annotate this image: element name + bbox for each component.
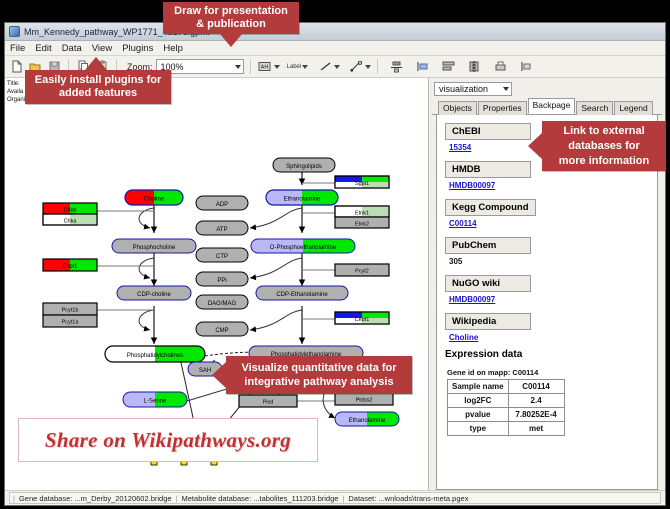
svg-text:Phosphocholine: Phosphocholine: [133, 245, 176, 251]
svg-text:Phosphatidylcholines: Phosphatidylcholines: [127, 353, 183, 359]
node-dagmag: DAG/MAG: [196, 295, 248, 309]
label-dropdown[interactable]: Label: [287, 64, 309, 70]
canvas-meta-title: Title:: [7, 80, 25, 88]
db-name-kegg: Kegg Compound: [445, 199, 536, 216]
node-atp: ATP: [196, 221, 248, 235]
align-center-icon[interactable]: [388, 59, 404, 75]
new-file-icon[interactable]: [8, 59, 24, 75]
menu-bar: File Edit Data View Plugins Help: [5, 41, 665, 56]
node-phosphatidylcholines: Phosphatidylcholines: [105, 346, 205, 362]
expr-key-pvalue: pvalue: [448, 408, 509, 422]
svg-text:Sphingolipids: Sphingolipids: [286, 164, 322, 170]
node-chpt1: Chpt1: [43, 259, 97, 271]
callout-plugins-arrow: [85, 57, 107, 70]
expr-val-pvalue: 7.80252E-4: [508, 408, 564, 422]
node-l-serine-left: L-Serine: [123, 392, 187, 407]
callout-plugins: Easily install plugins for added feature…: [25, 70, 171, 104]
expression-data-title: Expression data: [445, 349, 657, 360]
node-cdp-choline: CDP-choline: [117, 286, 191, 300]
app-icon: [9, 26, 20, 37]
status-dataset: Dataset: ...wnloads\trans-meta.pgex: [348, 494, 468, 503]
svg-text:Cept1: Cept1: [355, 317, 370, 323]
callout-plugins-line1: Easily install plugins for: [35, 74, 162, 87]
node-ppi: PPi: [196, 272, 248, 286]
node-sphingolipids: Sphingolipids: [273, 158, 335, 172]
svg-text:Pcyt1a: Pcyt1a: [62, 320, 80, 326]
chevron-down-icon: [503, 87, 509, 91]
svg-text:SAH: SAH: [199, 368, 211, 374]
node-etnk2: Etnk2: [335, 217, 389, 228]
db-name-chebi: ChEBI: [445, 123, 531, 140]
db-name-wikipedia: Wikipedia: [445, 313, 531, 330]
visualization-select[interactable]: visualization: [434, 82, 512, 96]
node-sgpl1: Sgpl1: [335, 176, 389, 188]
svg-text:CDP-Ethanolamine: CDP-Ethanolamine: [276, 292, 328, 298]
table-row: log2FC 2.4: [448, 394, 565, 408]
tab-properties[interactable]: Properties: [478, 101, 527, 115]
node-ptdss2: Ptdss2: [335, 393, 393, 405]
chevron-down-icon: [365, 65, 371, 69]
db-name-hmdb: HMDB: [445, 161, 531, 178]
chevron-down-icon: [334, 65, 340, 69]
backpage-content: ChEBI 15354 HMDB HMDB00097 Kegg Compound…: [436, 115, 658, 490]
svg-text:Sgpl1: Sgpl1: [355, 181, 369, 187]
menu-data[interactable]: Data: [62, 43, 82, 54]
node-o-phosphoethanolamine: O-Phosphoethanolamine: [251, 239, 355, 253]
svg-text:CDP-choline: CDP-choline: [137, 292, 171, 298]
line-dropdown[interactable]: [317, 59, 340, 75]
callout-draw: Draw for presentation & publication: [163, 2, 299, 34]
expr-key-sample-name: Sample name: [448, 380, 509, 394]
status-gene-database: Gene database: ...m_Derby_20120602.bridg…: [19, 494, 172, 503]
line-icon: [317, 59, 333, 75]
label-dropdown-label: Label: [287, 64, 302, 70]
expr-val-log2fc: 2.4: [508, 394, 564, 408]
node-chkb: Chkb: [43, 203, 97, 214]
node-cmp: CMP: [196, 322, 248, 336]
svg-text:Etnk1: Etnk1: [355, 211, 369, 217]
callout-links-line3: more information: [559, 154, 649, 169]
callout-plugins-line2: added features: [59, 87, 137, 100]
callout-draw-line1: Draw for presentation: [174, 5, 288, 18]
table-row: type met: [448, 422, 565, 436]
node-pcyt1b: Pcyt1b: [43, 303, 97, 315]
align-rows-icon[interactable]: [440, 59, 456, 75]
callout-visualize-line2: integrative pathway analysis: [244, 375, 393, 389]
node-phosphocholine: Phosphocholine: [112, 239, 196, 253]
menu-plugins[interactable]: Plugins: [122, 43, 153, 54]
db-link-wikipedia[interactable]: Choline: [445, 330, 657, 342]
svg-text:Chpt1: Chpt1: [63, 264, 78, 270]
title-bar: Mm_Kennedy_pathway_WP1771_45176.gpml: [5, 23, 665, 41]
menu-file[interactable]: File: [10, 43, 25, 54]
svg-text:DAG/MAG: DAG/MAG: [208, 301, 237, 307]
tab-search[interactable]: Search: [576, 101, 613, 115]
expr-key-log2fc: log2FC: [448, 394, 509, 408]
screenshot-root: Mm_Kennedy_pathway_WP1771_45176.gpml Fil…: [0, 0, 670, 509]
print-icon[interactable]: [492, 59, 508, 75]
canvas-meta-availability: Availa: [7, 88, 25, 96]
status-separator: |: [176, 494, 178, 503]
db-link-kegg[interactable]: C00114: [445, 216, 657, 228]
callout-visualize-line1: Visualize quantitative data for: [241, 361, 396, 375]
svg-text:PPi: PPi: [217, 278, 226, 284]
chevron-down-icon: [274, 65, 280, 69]
toolbar-separator: [250, 59, 251, 74]
tab-backpage[interactable]: Backpage: [528, 98, 576, 114]
svg-text:Ptdss2: Ptdss2: [356, 398, 373, 404]
svg-text:Pcyt2: Pcyt2: [355, 269, 369, 275]
callout-links-line2: databases for: [568, 139, 640, 154]
toolbar-separator: [377, 59, 378, 74]
menu-help[interactable]: Help: [163, 43, 183, 54]
svg-text:L-Serine: L-Serine: [144, 399, 167, 405]
svg-text:Pcyt1b: Pcyt1b: [62, 308, 79, 314]
svg-text:CMP: CMP: [215, 328, 228, 334]
svg-text:O-Phosphoethanolamine: O-Phosphoethanolamine: [270, 245, 337, 251]
node-pisd: Pisd: [239, 395, 297, 407]
status-metabolite-database: Metabolite database: ...tabolites_111203…: [182, 494, 339, 503]
svg-text:Chka: Chka: [64, 219, 78, 225]
svg-text:Choline: Choline: [144, 197, 165, 203]
node-cdp-ethanolamine: CDP-Ethanolamine: [256, 286, 348, 300]
db-name-nugo: NuGO wiki: [445, 275, 531, 292]
expression-table: Sample name C00114 log2FC 2.4 pvalue 7.8…: [447, 379, 565, 436]
db-value-pubchem: 305: [445, 254, 657, 266]
anchor-icon: [348, 59, 364, 75]
table-row: Sample name C00114: [448, 380, 565, 394]
db-block-nugo: NuGO wiki HMDB00097: [445, 273, 657, 304]
status-bar-inner: | Gene database: ...m_Derby_20120602.bri…: [9, 492, 661, 504]
share-text: Share on Wikipathways.org: [45, 428, 291, 453]
expr-val-sample-name: C00114: [508, 380, 564, 394]
callout-links: Link to external databases for more info…: [542, 121, 666, 171]
gene-id-line: Gene id on mapp: C00114: [447, 368, 657, 377]
datanode-dropdown[interactable]: AH: [257, 59, 280, 75]
db-block-wikipedia: Wikipedia Choline: [445, 311, 657, 342]
db-link-hmdb[interactable]: HMDB00097: [445, 178, 657, 190]
svg-text:Etnk2: Etnk2: [355, 222, 369, 228]
callout-draw-line2: & publication: [196, 18, 266, 31]
align-columns-icon[interactable]: [466, 59, 482, 75]
node-pcyt1a: Pcyt1a: [43, 315, 97, 327]
menu-edit[interactable]: Edit: [35, 43, 51, 54]
callout-links-line1: Link to external: [563, 124, 644, 139]
tab-objects[interactable]: Objects: [438, 101, 477, 115]
datanode-icon: AH: [257, 59, 273, 75]
callout-share: Share on Wikipathways.org: [18, 418, 318, 462]
node-chka: Chka: [43, 214, 97, 225]
table-row: pvalue 7.80252E-4: [448, 408, 565, 422]
expr-key-type: type: [448, 422, 509, 436]
expr-val-type: met: [508, 422, 564, 436]
canvas-meta-organism: Organi: [7, 96, 25, 104]
visualization-select-value: visualization: [439, 84, 488, 94]
node-choline-top: Choline: [125, 190, 183, 205]
svg-text:Chkb: Chkb: [64, 208, 77, 214]
db-link-nugo[interactable]: HMDB00097: [445, 292, 657, 304]
align-left-icon[interactable]: [414, 59, 430, 75]
chevron-down-icon: [235, 65, 241, 69]
distribute-icon[interactable]: [518, 59, 534, 75]
callout-draw-arrow: [220, 34, 242, 47]
callout-links-arrow: [528, 133, 542, 159]
status-bar: | Gene database: ...m_Derby_20120602.bri…: [5, 490, 665, 505]
node-etnk1: Etnk1: [335, 206, 389, 217]
svg-text:ATP: ATP: [216, 227, 227, 233]
db-name-pubchem: PubChem: [445, 237, 531, 254]
menu-view[interactable]: View: [92, 43, 112, 54]
db-block-pubchem: PubChem 305: [445, 235, 657, 266]
svg-text:Ethanolamine: Ethanolamine: [284, 197, 321, 203]
node-cept1: Cept1: [335, 312, 389, 324]
svg-text:AH: AH: [261, 65, 269, 71]
panel-tabs: Objects Properties Backpage Search Legen…: [432, 100, 662, 115]
node-ethanolamine-bottom: Ethanolamine: [335, 412, 399, 426]
callout-visualize: Visualize quantitative data for integrat…: [226, 356, 412, 394]
svg-text:ADP: ADP: [216, 202, 228, 208]
node-pcyt2: Pcyt2: [335, 264, 389, 276]
node-ethanolamine-top: Ethanolamine: [266, 190, 338, 205]
node-ctp: CTP: [196, 248, 248, 262]
svg-text:Ethanolamine: Ethanolamine: [349, 418, 386, 424]
db-block-kegg: Kegg Compound C00114: [445, 197, 657, 228]
callout-visualize-arrow: [212, 362, 226, 388]
status-separator: |: [13, 494, 15, 503]
tab-legend[interactable]: Legend: [614, 101, 652, 115]
chevron-down-icon: [302, 65, 308, 69]
node-adp: ADP: [196, 196, 248, 210]
anchor-dropdown[interactable]: [348, 59, 371, 75]
svg-text:CTP: CTP: [216, 254, 228, 260]
status-separator: |: [342, 494, 344, 503]
svg-text:Pisd: Pisd: [263, 400, 274, 406]
canvas-meta: Title: Availa Organi: [7, 80, 25, 104]
